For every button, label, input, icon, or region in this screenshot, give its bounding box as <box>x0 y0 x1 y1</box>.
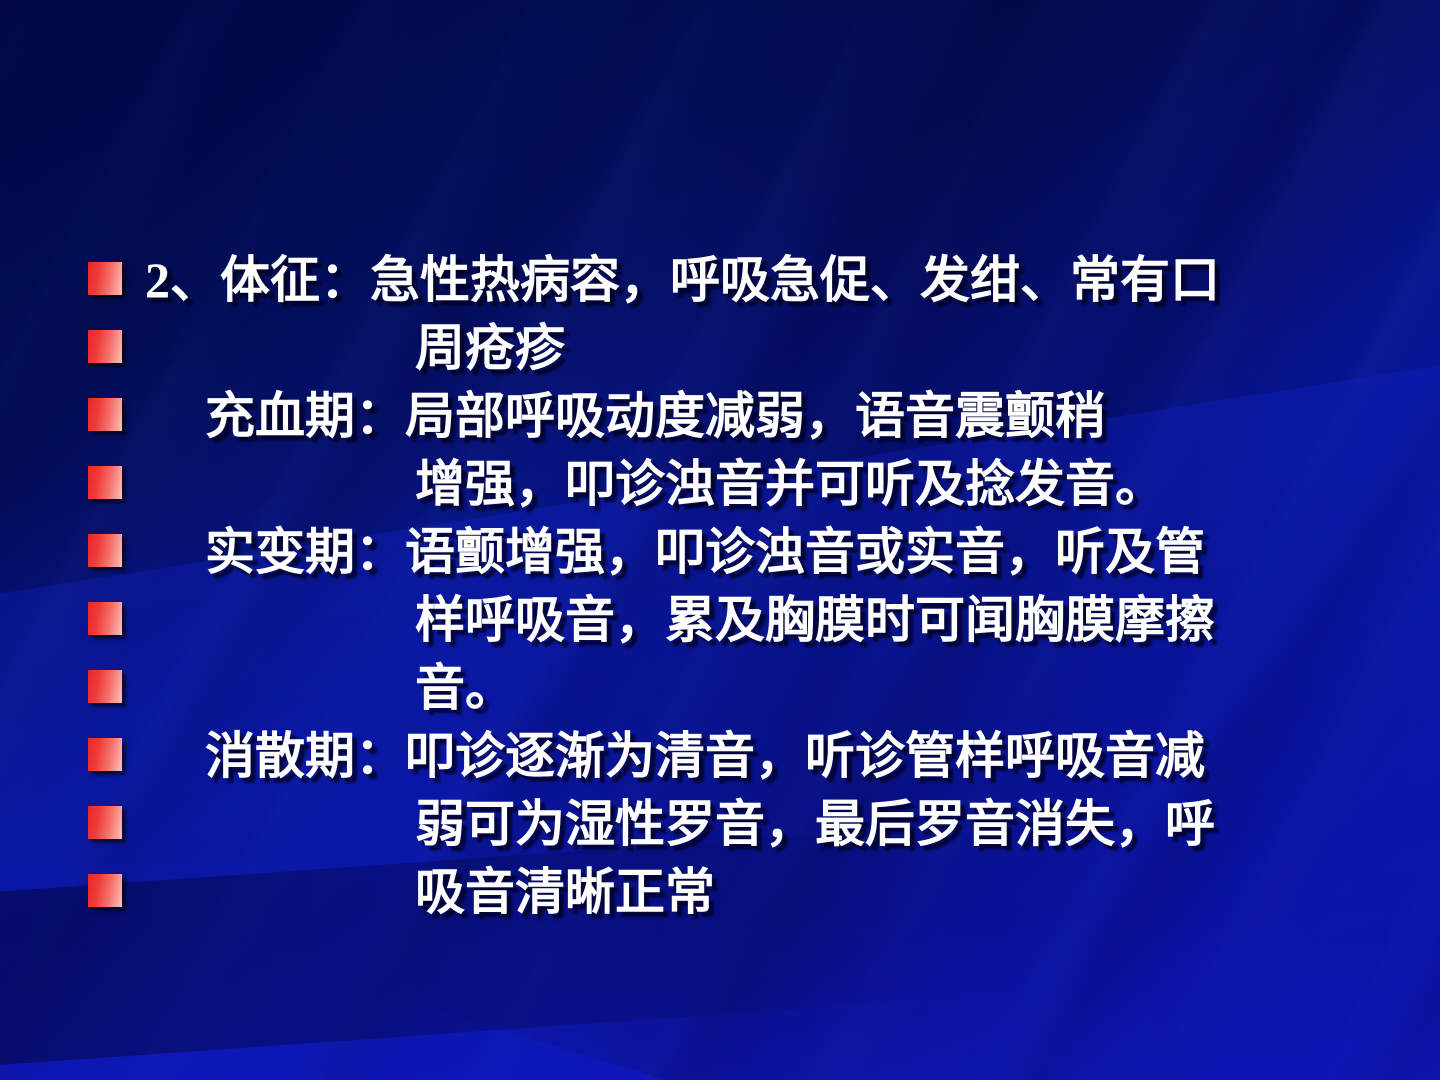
body-text-line: 样呼吸音，累及胸膜时可闻胸膜摩擦 <box>0 586 1440 654</box>
body-text-line: 吸音清晰正常 <box>0 858 1440 926</box>
body-text-line: 消散期：叩诊逐渐为清音，听诊管样呼吸音减 <box>0 722 1440 790</box>
body-text-line: 弱可为湿性罗音，最后罗音消失，呼 <box>0 790 1440 858</box>
body-text-line: 2、体征：急性热病容，呼吸急促、发绀、常有口 <box>0 246 1440 314</box>
body-text-line: 充血期：局部呼吸动度减弱，语音震颤稍 <box>0 382 1440 450</box>
body-text-line: 周疮疹 <box>0 314 1440 382</box>
presentation-slide: 2、体征：急性热病容，呼吸急促、发绀、常有口周疮疹充血期：局部呼吸动度减弱，语音… <box>0 0 1440 1080</box>
body-text-line: 增强，叩诊浊音并可听及捻发音。 <box>0 450 1440 518</box>
body-text-line: 实变期：语颤增强，叩诊浊音或实音，听及管 <box>0 518 1440 586</box>
slide-body-text: 2、体征：急性热病容，呼吸急促、发绀、常有口周疮疹充血期：局部呼吸动度减弱，语音… <box>0 246 1440 926</box>
body-text-line: 音。 <box>0 654 1440 722</box>
